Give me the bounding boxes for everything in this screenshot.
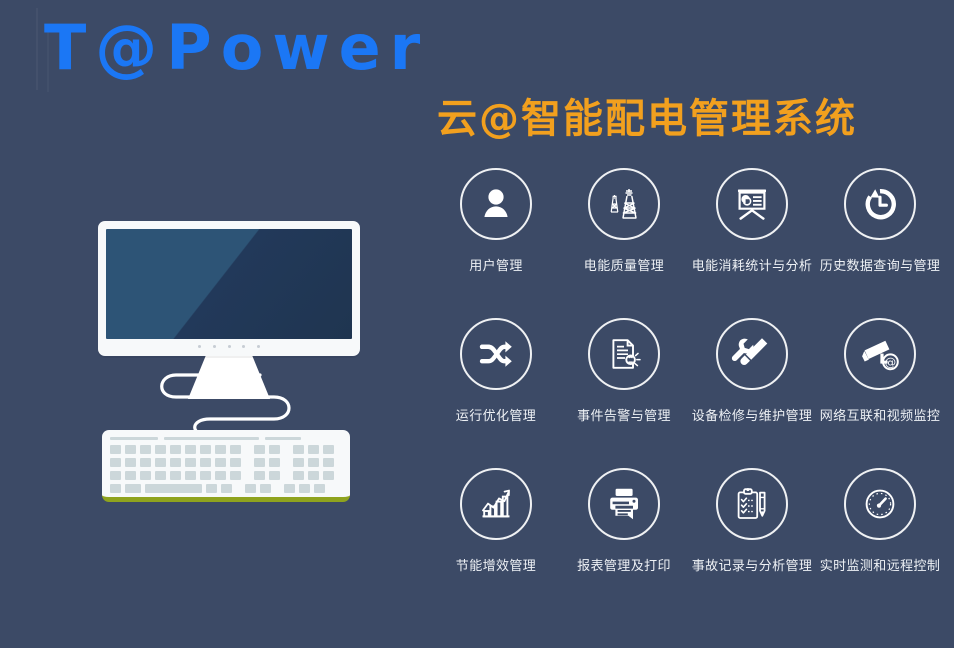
monitor xyxy=(98,221,360,356)
svg-text:@: @ xyxy=(885,355,897,369)
feature-item-report-print[interactable]: 报表管理及打印 xyxy=(560,468,688,618)
feature-item-incident-record[interactable]: 事故记录与分析管理 xyxy=(688,468,816,618)
keyboard-row-spacebar xyxy=(110,484,342,493)
keyboard-function-row xyxy=(110,437,342,440)
feature-label: 用户管理 xyxy=(469,255,523,274)
growth-bar-chart-icon xyxy=(460,468,532,540)
monitor-stand xyxy=(188,355,270,399)
gauge-meter-icon xyxy=(844,468,916,540)
feature-label: 电能消耗统计与分析 xyxy=(692,255,813,274)
keyboard-row xyxy=(110,445,342,454)
cctv-camera-at-icon: @ xyxy=(844,318,916,390)
feature-label: 历史数据查询与管理 xyxy=(820,255,941,274)
feature-item-operation-optimization[interactable]: 运行优化管理 xyxy=(432,318,560,468)
feature-label: 运行优化管理 xyxy=(456,405,536,424)
shuffle-arrows-icon xyxy=(460,318,532,390)
feature-grid: 用户管理 xyxy=(432,168,944,618)
feature-label: 实时监测和远程控制 xyxy=(820,555,941,574)
keyboard xyxy=(102,430,350,502)
feature-label: 电能质量管理 xyxy=(584,255,664,274)
feature-item-power-quality[interactable]: 电能质量管理 xyxy=(560,168,688,318)
clock-history-icon xyxy=(844,168,916,240)
feature-label: 节能增效管理 xyxy=(456,555,536,574)
background-artifact-line xyxy=(36,8,38,90)
monitor-indicator-dots xyxy=(198,344,260,349)
feature-item-maintenance[interactable]: 设备检修与维护管理 xyxy=(688,318,816,468)
feature-label: 设备检修与维护管理 xyxy=(692,405,813,424)
feature-item-user-management[interactable]: 用户管理 xyxy=(432,168,560,318)
page-title: T@Power xyxy=(44,14,429,82)
document-alert-icon xyxy=(588,318,660,390)
keyboard-row xyxy=(110,458,342,467)
feature-item-realtime-control[interactable]: 实时监测和远程控制 xyxy=(816,468,944,618)
feature-item-consumption-analysis[interactable]: 电能消耗统计与分析 xyxy=(688,168,816,318)
feature-item-energy-saving[interactable]: 节能增效管理 xyxy=(432,468,560,618)
feature-label: 事故记录与分析管理 xyxy=(692,555,813,574)
desktop-computer-illustration xyxy=(80,205,390,545)
feature-item-network-video[interactable]: @ 网络互联和视频监控 xyxy=(816,318,944,468)
monitor-screen xyxy=(106,229,352,339)
feature-item-history-data[interactable]: 历史数据查询与管理 xyxy=(816,168,944,318)
feature-label: 事件告警与管理 xyxy=(577,405,671,424)
presentation-chart-icon xyxy=(716,168,788,240)
page-subtitle: 云@智能配电管理系统 xyxy=(437,96,857,142)
poster-canvas: T@Power 云@智能配电管理系统 xyxy=(0,0,954,648)
feature-label: 报表管理及打印 xyxy=(577,555,671,574)
power-tower-icon xyxy=(588,168,660,240)
wrench-screwdriver-icon xyxy=(716,318,788,390)
feature-label: 网络互联和视频监控 xyxy=(820,405,941,424)
user-icon xyxy=(460,168,532,240)
keyboard-row xyxy=(110,471,342,480)
feature-item-event-alarm[interactable]: 事件告警与管理 xyxy=(560,318,688,468)
clipboard-checklist-pen-icon xyxy=(716,468,788,540)
printer-icon xyxy=(588,468,660,540)
